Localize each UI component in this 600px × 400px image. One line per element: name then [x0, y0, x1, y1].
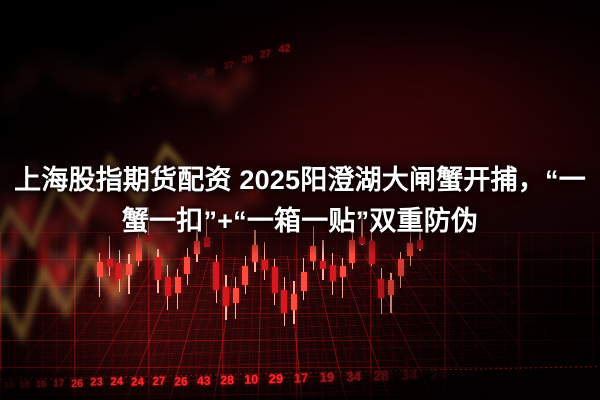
page-title: 上海股指期货配资 2025阳澄湖大闸蟹开捕，“一蟹一扣”+“一箱一贴”双重防伪 [0, 160, 600, 242]
axis-dim-overlay [0, 370, 600, 400]
image-canvas: 46494645383837392742 1415161726232424272… [0, 0, 600, 400]
